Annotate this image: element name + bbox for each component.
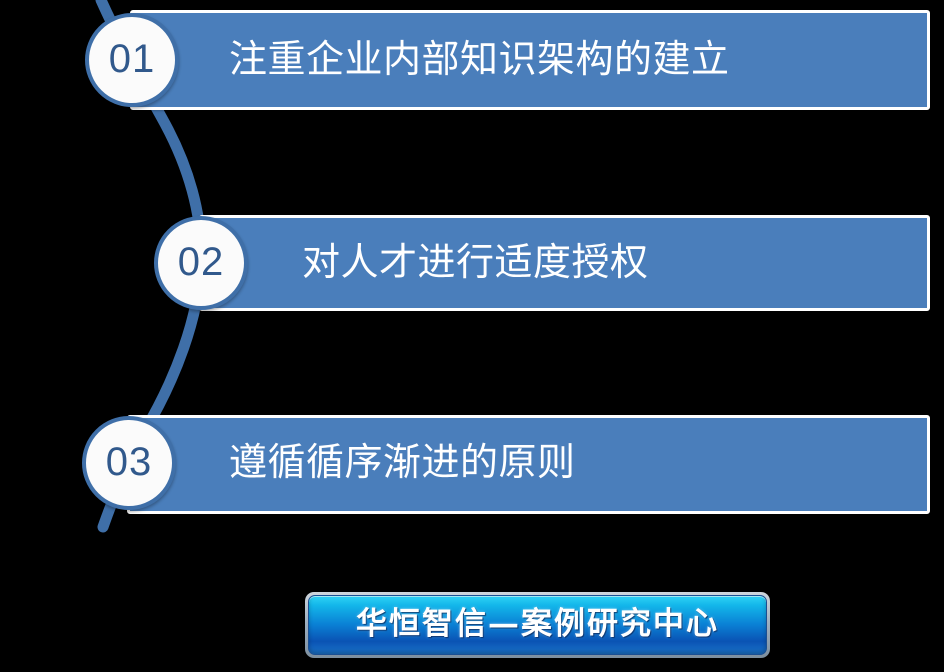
step-number-circle-2[interactable]: 02 (154, 216, 248, 310)
step-label-3: 遵循循序渐进的原则 (229, 444, 576, 482)
logo-badge: 华恒智信—案例研究中心 (305, 592, 770, 658)
step-label-2: 对人才进行适度授权 (302, 244, 649, 282)
step-number-circle-1[interactable]: 01 (85, 13, 179, 107)
step-number-3: 03 (106, 442, 153, 482)
logo-badge-inner: 华恒智信—案例研究中心 (308, 595, 767, 655)
step-number-circle-3[interactable]: 03 (82, 416, 176, 510)
step-label-1: 注重企业内部知识架构的建立 (229, 41, 730, 79)
logo-text: 华恒智信—案例研究中心 (356, 609, 719, 640)
slide-canvas: 注重企业内部知识架构的建立 01 对人才进行适度授权 02 遵循循序渐进的原则 … (0, 0, 944, 672)
step-number-2: 02 (178, 242, 225, 282)
step-number-1: 01 (109, 39, 156, 79)
